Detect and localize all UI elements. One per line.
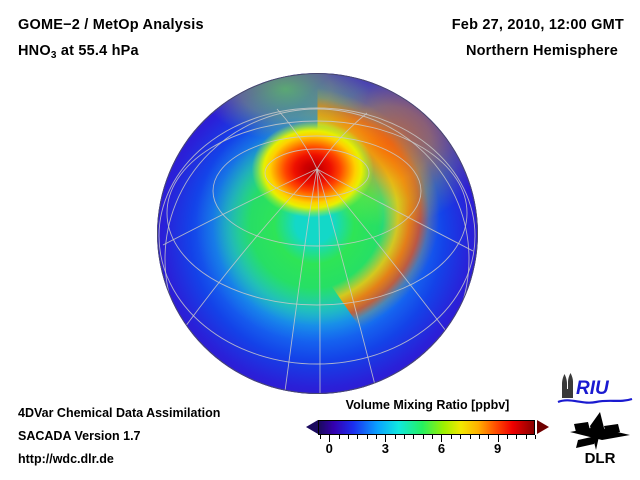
species-subscript: 3	[51, 50, 57, 61]
url-label[interactable]: http://wdc.dlr.de	[18, 448, 220, 471]
colorbar-minor-tick	[479, 435, 480, 439]
colorbar-minor-tick	[451, 435, 452, 439]
analysis-title: GOME−2 / MetOp Analysis	[18, 12, 204, 38]
colorbar-tick-label: 9	[494, 441, 501, 456]
footer-credits: 4DVar Chemical Data Assimilation SACADA …	[18, 402, 220, 471]
colorbar-minor-tick	[348, 435, 349, 439]
colorbar-minor-tick	[367, 435, 368, 439]
colorbar-max-arrow	[537, 420, 549, 434]
colorbar-minor-tick	[395, 435, 396, 439]
species-name: HNO	[18, 43, 51, 59]
colorbar-tick-label: 0	[326, 441, 333, 456]
pressure-level: at 55.4 hPa	[57, 43, 139, 59]
colorbar-minor-tick	[339, 435, 340, 439]
dlr-wordmark: DLR	[585, 450, 616, 466]
method-label: 4DVar Chemical Data Assimilation	[18, 402, 220, 425]
colorbar-minor-tick	[516, 435, 517, 439]
timestamp-label: Feb 27, 2010, 12:00 GMT	[452, 12, 624, 38]
header-right: Feb 27, 2010, 12:00 GMT Northern Hemisph…	[452, 12, 624, 64]
colorbar-minor-tick	[376, 435, 377, 439]
dlr-logo: DLR	[566, 410, 634, 466]
riu-towers-icon	[562, 373, 573, 398]
hemisphere-label: Northern Hemisphere	[452, 38, 624, 64]
dlr-mark-icon	[570, 412, 630, 450]
colorbar-minor-tick	[526, 435, 527, 439]
colorbar-minor-tick	[460, 435, 461, 439]
header-left: GOME−2 / MetOp Analysis HNO3 at 55.4 hPa	[18, 12, 204, 66]
globe-sphere	[157, 73, 478, 394]
riu-wave-icon	[558, 399, 632, 403]
figure-canvas: GOME−2 / MetOp Analysis HNO3 at 55.4 hPa…	[0, 0, 640, 480]
colorbar-tick-labels: 0369	[305, 441, 550, 459]
colorbar-minor-tick	[507, 435, 508, 439]
riu-wordmark: RIU	[576, 378, 610, 399]
colorbar-gradient	[318, 420, 535, 435]
colorbar-minor-tick	[488, 435, 489, 439]
riu-logo: RIU	[556, 372, 634, 406]
colorbar-minor-tick	[357, 435, 358, 439]
colorbar-minor-tick	[404, 435, 405, 439]
colorbar-tick-label: 3	[382, 441, 389, 456]
version-label: SACADA Version 1.7	[18, 425, 220, 448]
globe-outline	[157, 73, 478, 394]
colorbar: Volume Mixing Ratio [ppbv] 0369	[305, 398, 550, 459]
colorbar-min-arrow	[306, 420, 318, 434]
colorbar-minor-tick	[470, 435, 471, 439]
colorbar-scale	[305, 418, 550, 438]
colorbar-minor-tick	[423, 435, 424, 439]
species-level-label: HNO3 at 55.4 hPa	[18, 38, 204, 66]
colorbar-minor-tick	[535, 435, 536, 439]
colorbar-tick-label: 6	[438, 441, 445, 456]
colorbar-title: Volume Mixing Ratio [ppbv]	[305, 398, 550, 412]
colorbar-minor-tick	[432, 435, 433, 439]
colorbar-minor-tick	[320, 435, 321, 439]
globe-map	[157, 73, 478, 394]
colorbar-minor-tick	[413, 435, 414, 439]
